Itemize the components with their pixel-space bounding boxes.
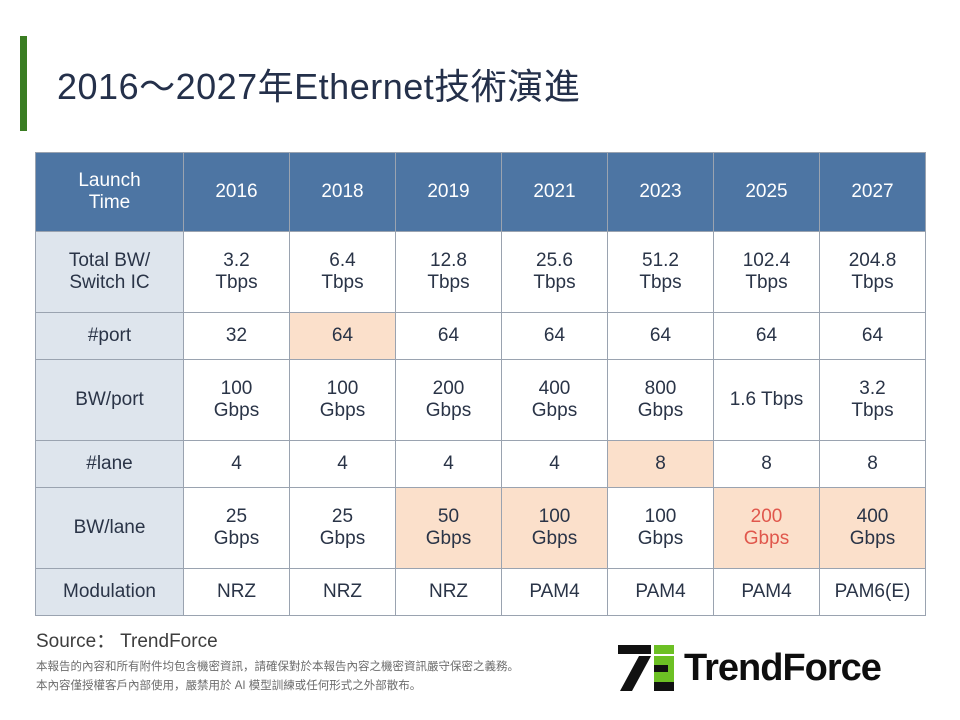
table-cell: 8 (714, 441, 820, 488)
table-cell: 102.4Tbps (714, 232, 820, 313)
row-label: BW/port (36, 360, 184, 441)
table-cell: 100Gbps (608, 488, 714, 569)
disclaimer-line-1: 本報告的內容和所有附件均包含機密資訊，請確保對於本報告內容之機密資訊嚴守保密之義… (36, 658, 519, 677)
disclaimer-line-2: 本內容僅授權客戶內部使用，嚴禁用於 AI 模型訓練或任何形式之外部散布。 (36, 677, 519, 696)
table-cell: 25Gbps (290, 488, 396, 569)
table-cell: 1.6 Tbps (714, 360, 820, 441)
table-cell: 4 (290, 441, 396, 488)
table-cell: 204.8Tbps (820, 232, 926, 313)
table-cell: 3.2Tbps (820, 360, 926, 441)
table-cell: 64 (502, 313, 608, 360)
table-cell: 100Gbps (502, 488, 608, 569)
table-header-launch-time: LaunchTime (36, 153, 184, 232)
table-cell: 51.2Tbps (608, 232, 714, 313)
table-cell: 4 (396, 441, 502, 488)
row-label: Total BW/Switch IC (36, 232, 184, 313)
table-cell: 64 (714, 313, 820, 360)
table-cell: PAM4 (502, 569, 608, 616)
table-cell: 64 (608, 313, 714, 360)
table-cell: PAM4 (608, 569, 714, 616)
table-cell: 3.2Tbps (184, 232, 290, 313)
table-cell: 6.4Tbps (290, 232, 396, 313)
table-cell: 64 (396, 313, 502, 360)
table-cell: 200Gbps (714, 488, 820, 569)
table-cell: 100Gbps (184, 360, 290, 441)
table-cell: 25.6Tbps (502, 232, 608, 313)
table-header-year-2019: 2019 (396, 153, 502, 232)
table-cell: 100Gbps (290, 360, 396, 441)
table-row: BW/lane25Gbps25Gbps50Gbps100Gbps100Gbps2… (36, 488, 926, 569)
row-label: Modulation (36, 569, 184, 616)
source-label: Source： TrendForce (36, 626, 218, 653)
trendforce-logo: TrendForce (618, 645, 881, 691)
table-cell: 4 (502, 441, 608, 488)
table-cell: 64 (290, 313, 396, 360)
table-cell: PAM4 (714, 569, 820, 616)
trendforce-logo-mark-icon (618, 645, 674, 691)
table-cell: 400Gbps (502, 360, 608, 441)
table-header-year-2023: 2023 (608, 153, 714, 232)
table-header-year-2018: 2018 (290, 153, 396, 232)
table-row: #port32646464646464 (36, 313, 926, 360)
row-label: #lane (36, 441, 184, 488)
title-block: 2016～2027年Ethernet技術演進 (20, 36, 580, 131)
table-header-year-2021: 2021 (502, 153, 608, 232)
page-title: 2016～2027年Ethernet技術演進 (57, 36, 580, 131)
table-cell: NRZ (290, 569, 396, 616)
ethernet-roadmap-table: LaunchTime2016201820192021202320252027 T… (35, 152, 926, 616)
table-cell: 200Gbps (396, 360, 502, 441)
table-header-year-2016: 2016 (184, 153, 290, 232)
row-label: BW/lane (36, 488, 184, 569)
table-body: Total BW/Switch IC3.2Tbps6.4Tbps12.8Tbps… (36, 232, 926, 616)
table-header: LaunchTime2016201820192021202320252027 (36, 153, 926, 232)
table-header-year-2025: 2025 (714, 153, 820, 232)
table-cell: 400Gbps (820, 488, 926, 569)
table-cell: 12.8Tbps (396, 232, 502, 313)
table-cell: 8 (820, 441, 926, 488)
table-row: #lane4444888 (36, 441, 926, 488)
table-cell: 64 (820, 313, 926, 360)
table-header-year-2027: 2027 (820, 153, 926, 232)
disclaimer-block: 本報告的內容和所有附件均包含機密資訊，請確保對於本報告內容之機密資訊嚴守保密之義… (36, 658, 519, 696)
table-cell: 800Gbps (608, 360, 714, 441)
table-cell: NRZ (184, 569, 290, 616)
table-cell: PAM6(E) (820, 569, 926, 616)
table-row: ModulationNRZNRZNRZPAM4PAM4PAM4PAM6(E) (36, 569, 926, 616)
table-cell: 8 (608, 441, 714, 488)
table-cell: 32 (184, 313, 290, 360)
row-label: #port (36, 313, 184, 360)
ethernet-roadmap-table-wrap: LaunchTime2016201820192021202320252027 T… (35, 152, 925, 616)
table-cell: NRZ (396, 569, 502, 616)
table-cell: 50Gbps (396, 488, 502, 569)
table-row: Total BW/Switch IC3.2Tbps6.4Tbps12.8Tbps… (36, 232, 926, 313)
title-accent-bar (20, 36, 27, 131)
slide-canvas: ◪TrendForce 2016～2027年Ethernet技術演進 Launc… (0, 0, 960, 720)
trendforce-logo-text: TrendForce (684, 649, 881, 687)
table-header-row: LaunchTime2016201820192021202320252027 (36, 153, 926, 232)
table-row: BW/port100Gbps100Gbps200Gbps400Gbps800Gb… (36, 360, 926, 441)
table-cell: 4 (184, 441, 290, 488)
table-cell: 25Gbps (184, 488, 290, 569)
